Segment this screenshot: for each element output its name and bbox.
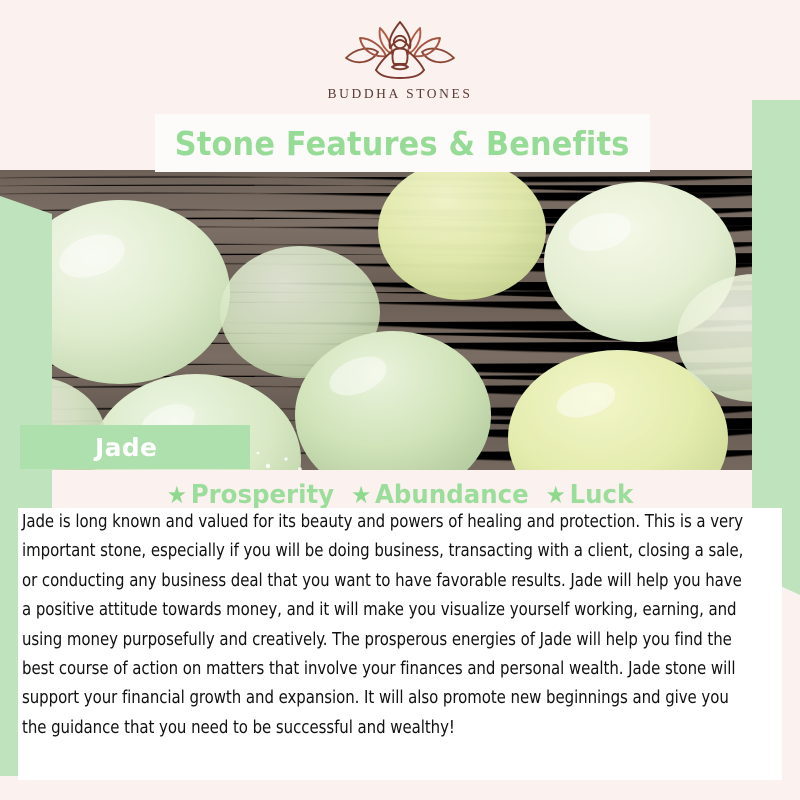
brand-logo: BUDDHA STONES bbox=[0, 18, 800, 114]
keyword-label: Luck bbox=[570, 480, 634, 510]
description-panel: Jade is long known and valued for its be… bbox=[18, 508, 782, 780]
brand-name: BUDDHA STONES bbox=[328, 86, 473, 102]
star-icon: ★ bbox=[546, 481, 566, 509]
keyword-label: Abundance bbox=[375, 480, 529, 510]
keyword-item-luck: ★Luck bbox=[546, 480, 634, 510]
lotus-meditation-figure-icon bbox=[326, 18, 474, 80]
description-text: Jade is long known and valued for its be… bbox=[22, 508, 744, 743]
keyword-item-prosperity: ★Prosperity bbox=[167, 480, 334, 510]
stone-name-banner: Jade bbox=[20, 425, 250, 469]
stone-info-card: BUDDHA STONES Stone Features & Benefits … bbox=[0, 0, 800, 800]
stone-name-label: Jade bbox=[95, 433, 157, 462]
star-icon: ★ bbox=[167, 481, 187, 509]
keyword-label: Prosperity bbox=[191, 480, 334, 510]
page-title: Stone Features & Benefits bbox=[175, 124, 630, 163]
star-icon: ★ bbox=[351, 481, 371, 509]
title-banner: Stone Features & Benefits bbox=[155, 114, 650, 172]
bottom-margin bbox=[0, 778, 800, 800]
content-area: ★Prosperity★Abundance★Luck Jade is long … bbox=[18, 470, 782, 780]
keyword-item-abundance: ★Abundance bbox=[351, 480, 529, 510]
keyword-list: ★Prosperity★Abundance★Luck bbox=[41, 470, 759, 510]
